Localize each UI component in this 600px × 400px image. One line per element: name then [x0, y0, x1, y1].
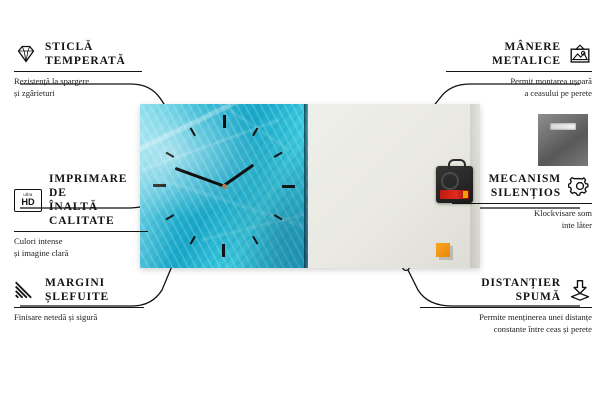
callout-title: MARGINI ȘLEFUITE — [45, 276, 109, 304]
callout-rule — [14, 307, 144, 308]
callout-manere-metalice: MÂNERE METALICE Permit montarea ușoară a… — [446, 40, 592, 99]
clock-center-cap — [222, 184, 227, 189]
foam-spacer-part — [436, 243, 450, 257]
callout-rule — [14, 71, 142, 72]
hanger-slot — [550, 123, 576, 130]
product-photo — [140, 104, 480, 268]
callout-subtitle: Culori intense și imagine clară — [14, 236, 148, 259]
bevel-stripes-icon — [14, 279, 38, 301]
callout-subtitle: Klockvisare som inte låter — [452, 208, 592, 231]
callout-rule — [14, 231, 148, 232]
clock-minute-hand — [175, 167, 225, 187]
movement-loop — [448, 159, 466, 170]
callout-title: MÂNERE METALICE — [492, 40, 561, 68]
diamond-icon — [14, 43, 38, 65]
callout-title: STICLĂ TEMPERATĂ — [45, 40, 126, 68]
callout-subtitle: Permit montarea ușoară a ceasului pe per… — [446, 76, 592, 99]
clock-front-panel — [140, 104, 308, 268]
callout-mecanism-silentios: MECANISM SILENȚIOS Klockvisare som inte … — [452, 172, 592, 231]
foam-spacer-arrow-icon — [568, 279, 592, 301]
callout-imprimare-hd: ultra HD IMPRIMARE DE ÎNALTĂ CALITATE Cu… — [14, 172, 148, 259]
metal-hanger-part — [538, 114, 588, 166]
ultra-hd-badge-icon: ultra HD — [14, 189, 42, 212]
callout-distantier-spuma: DISTANȚIER SPUMĂ Permite menținerea unei… — [420, 276, 592, 335]
callout-rule — [452, 203, 592, 204]
clock-dial — [140, 104, 308, 268]
clock-hour-hand — [223, 164, 254, 187]
callout-margini-slefuite: MARGINI ȘLEFUITE Finisare netedă și sigu… — [14, 276, 144, 324]
callout-subtitle: Finisare netedă și sigură — [14, 312, 144, 324]
callout-subtitle: Rezistență la spargere și zgârieturi — [14, 76, 142, 99]
gear-icon — [568, 175, 592, 197]
ultra-hd-badge-main: HD — [21, 198, 34, 207]
callout-title: MECANISM SILENȚIOS — [489, 172, 561, 200]
picture-hanger-icon — [568, 43, 592, 65]
callout-title: DISTANȚIER SPUMĂ — [481, 276, 561, 304]
callout-rule — [446, 71, 592, 72]
infographic-stage: STICLĂ TEMPERATĂ Rezistență la spargere … — [0, 0, 600, 400]
callout-rule — [420, 307, 592, 308]
callout-sticla-temperata: STICLĂ TEMPERATĂ Rezistență la spargere … — [14, 40, 142, 99]
callout-title: IMPRIMARE DE ÎNALTĂ CALITATE — [49, 172, 148, 228]
callout-subtitle: Permite menținerea unei distanțe constan… — [420, 312, 592, 335]
